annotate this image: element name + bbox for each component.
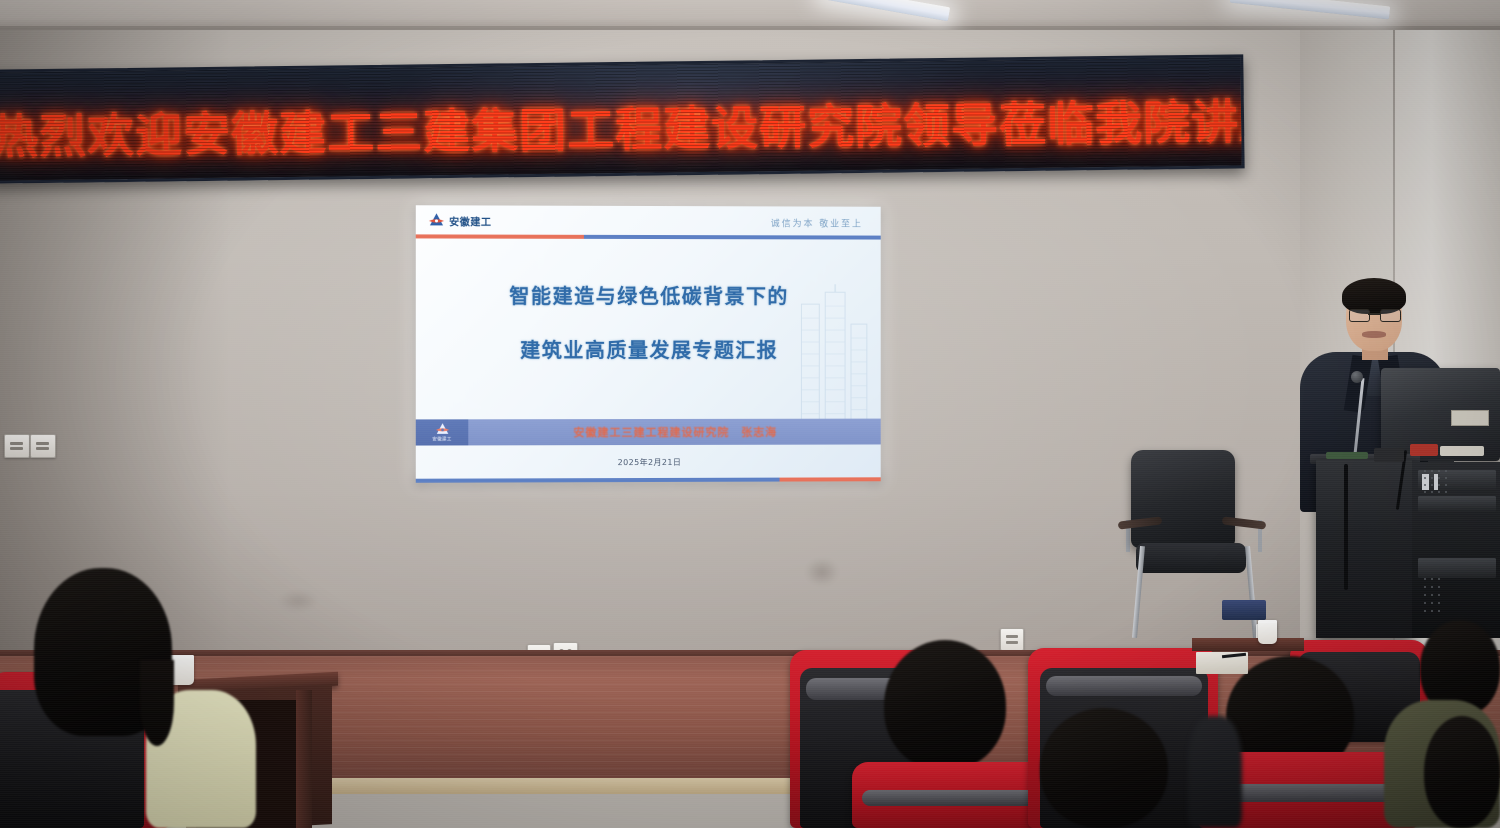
slide-title-line2: 建筑业高质量发展专题汇报 — [416, 334, 881, 363]
blue-box-under-chair — [1222, 600, 1266, 620]
led-banner-text: 热烈欢迎安徽建工三建集团工程建设研究院领导莅临我院讲座 — [0, 83, 1241, 167]
slide-logo: 安徽建工 — [428, 212, 492, 228]
rack-vent-grid — [1424, 578, 1468, 620]
rack-vent-grid — [1424, 470, 1468, 504]
monitor-asset-label — [1451, 410, 1489, 426]
slide-footer-logo-text: 安徽建工 — [432, 436, 451, 442]
side-desk — [1192, 638, 1304, 651]
office-chair-seat — [1136, 543, 1246, 573]
slide-title-line1: 智能建造与绿色低碳背景下的 — [416, 280, 881, 310]
office-chair-back — [1131, 450, 1235, 548]
audience-hair-strand — [140, 660, 174, 746]
paper-cup — [1258, 620, 1277, 644]
audience-head — [1040, 708, 1168, 828]
audience-head — [884, 640, 1006, 770]
anhui-construction-logo-icon — [434, 422, 449, 436]
led-panel: 热烈欢迎安徽建工三建集团工程建设研究院领导莅临我院讲座 — [0, 57, 1242, 180]
desk-item — [1410, 444, 1438, 456]
slide-date: 2025年2月21日 — [416, 456, 881, 468]
seat-band — [862, 790, 1044, 806]
wall-socket — [4, 434, 30, 458]
seat-band — [1046, 676, 1202, 696]
cable — [1344, 464, 1348, 590]
presenter-mouth — [1362, 331, 1386, 338]
desk-leg — [296, 690, 312, 828]
podium — [1316, 460, 1412, 638]
wall-scuff — [278, 590, 318, 612]
slide-footer-logo: 安徽建工 — [416, 419, 468, 445]
desk-item — [1374, 448, 1404, 462]
slide-slogan: 诚信为本 敬业至上 — [771, 216, 863, 229]
slide-footer-bar: 安徽建工 安徽建工三建工程建设研究院 张志海 — [416, 419, 881, 446]
wall-socket — [1000, 628, 1024, 651]
audience-head — [1424, 716, 1500, 828]
slide-header: 安徽建工 诚信为本 敬业至上 — [416, 205, 881, 238]
lecture-hall-photo: 热烈欢迎安徽建工三建集团工程建设研究院领导莅临我院讲座 — [0, 0, 1500, 828]
slide-title: 智能建造与绿色低碳背景下的 建筑业高质量发展专题汇报 — [416, 280, 881, 363]
glasses-icon — [1349, 309, 1399, 320]
slide-logo-text: 安徽建工 — [449, 213, 491, 228]
microphone-icon — [1351, 371, 1363, 383]
slide-footer-org: 安徽建工三建工程建设研究院 张志海 — [468, 424, 880, 441]
desk-item — [1440, 446, 1484, 456]
led-banner: 热烈欢迎安徽建工三建集团工程建设研究院领导莅临我院讲座 — [0, 54, 1245, 183]
slide-header-rule — [416, 234, 881, 239]
wall-socket — [30, 434, 56, 458]
anhui-construction-logo-icon — [428, 212, 445, 228]
desk-item — [1326, 452, 1368, 459]
audience-body — [1188, 716, 1242, 828]
projected-slide: 安徽建工 诚信为本 敬业至上 智能建造与绿色低碳背景下的 建筑业高质量发展专题汇… — [416, 205, 881, 483]
wall-scuff — [805, 558, 839, 586]
